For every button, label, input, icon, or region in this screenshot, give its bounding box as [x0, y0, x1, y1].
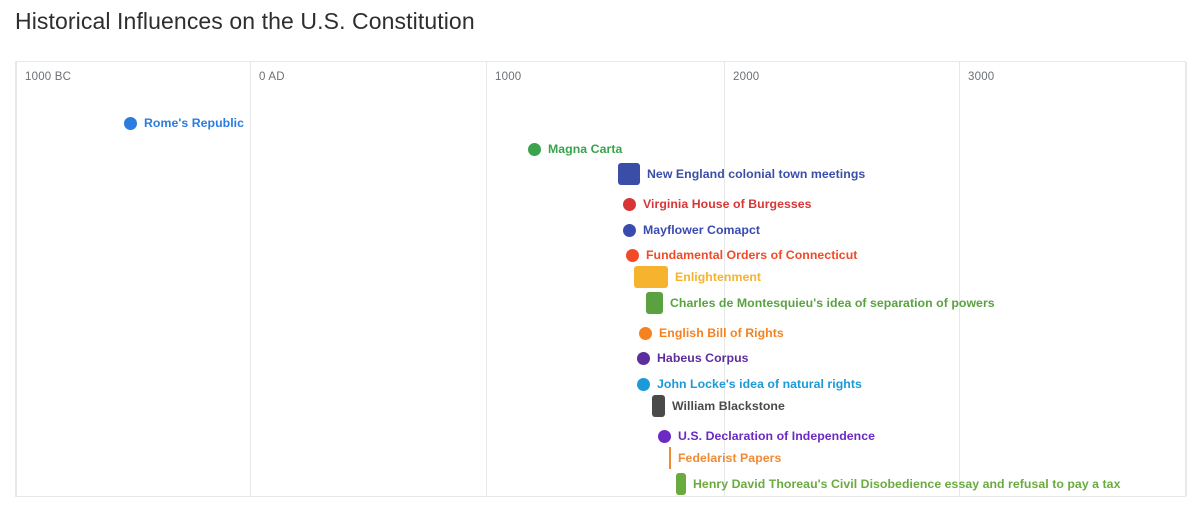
- event-marker-icon: [652, 395, 665, 417]
- timeline-event[interactable]: New England colonial town meetings: [618, 163, 865, 185]
- timeline-event[interactable]: Fundamental Orders of Connecticut: [626, 244, 857, 266]
- event-marker-icon: [626, 249, 639, 262]
- event-label: Charles de Montesquieu's idea of separat…: [670, 296, 995, 310]
- event-label: Fundamental Orders of Connecticut: [646, 248, 857, 262]
- timeline-event[interactable]: English Bill of Rights: [639, 322, 784, 344]
- page-title: Historical Influences on the U.S. Consti…: [15, 8, 475, 35]
- event-marker-icon: [669, 447, 671, 469]
- timeline-event[interactable]: Charles de Montesquieu's idea of separat…: [646, 292, 995, 314]
- event-marker-icon: [646, 292, 663, 314]
- event-marker-icon: [637, 352, 650, 365]
- event-marker-icon: [528, 143, 541, 156]
- gridline-0: [16, 62, 17, 496]
- event-marker-icon: [639, 327, 652, 340]
- event-label: Virginia House of Burgesses: [643, 197, 812, 211]
- gridline-1: [250, 62, 251, 496]
- event-label: New England colonial town meetings: [647, 167, 865, 181]
- timeline-event[interactable]: Magna Carta: [528, 138, 622, 160]
- timeline-event[interactable]: Mayflower Comapct: [623, 219, 760, 241]
- timeline-event[interactable]: Henry David Thoreau's Civil Disobedience…: [676, 473, 1120, 495]
- timeline-event[interactable]: U.S. Declaration of Independence: [658, 425, 875, 447]
- axis-tick-label: 1000 BC: [25, 71, 71, 83]
- event-label: Enlightenment: [675, 270, 761, 284]
- axis-tick-label: 0 AD: [259, 71, 285, 83]
- timeline-event[interactable]: Fedelarist Papers: [669, 447, 781, 469]
- timeline-event[interactable]: William Blackstone: [652, 395, 785, 417]
- event-marker-icon: [658, 430, 671, 443]
- event-label: Henry David Thoreau's Civil Disobedience…: [693, 477, 1120, 491]
- event-label: William Blackstone: [672, 399, 785, 413]
- timeline-chart: 1000 BC0 AD100020003000 Rome's RepublicM…: [15, 61, 1186, 497]
- axis-tick-label: 2000: [733, 71, 759, 83]
- event-marker-icon: [623, 224, 636, 237]
- event-label: Magna Carta: [548, 142, 622, 156]
- timeline-event[interactable]: Virginia House of Burgesses: [623, 193, 812, 215]
- event-marker-icon: [618, 163, 640, 185]
- timeline-page: Historical Influences on the U.S. Consti…: [0, 0, 1200, 512]
- event-marker-icon: [634, 266, 668, 288]
- event-label: Fedelarist Papers: [678, 451, 781, 465]
- gridline-5: [1186, 62, 1187, 496]
- event-marker-icon: [637, 378, 650, 391]
- event-label: Mayflower Comapct: [643, 223, 760, 237]
- event-label: John Locke's idea of natural rights: [657, 377, 862, 391]
- axis-tick-label: 1000: [495, 71, 521, 83]
- gridline-4: [959, 62, 960, 496]
- timeline-event[interactable]: Enlightenment: [634, 266, 761, 288]
- event-label: Rome's Republic: [144, 116, 244, 130]
- timeline-event[interactable]: John Locke's idea of natural rights: [637, 373, 862, 395]
- event-label: U.S. Declaration of Independence: [678, 429, 875, 443]
- event-marker-icon: [623, 198, 636, 211]
- axis-tick-label: 3000: [968, 71, 994, 83]
- event-marker-icon: [124, 117, 137, 130]
- timeline-event[interactable]: Habeus Corpus: [637, 347, 749, 369]
- event-marker-icon: [676, 473, 686, 495]
- event-label: English Bill of Rights: [659, 326, 784, 340]
- timeline-event[interactable]: Rome's Republic: [124, 112, 244, 134]
- gridline-2: [486, 62, 487, 496]
- event-label: Habeus Corpus: [657, 351, 749, 365]
